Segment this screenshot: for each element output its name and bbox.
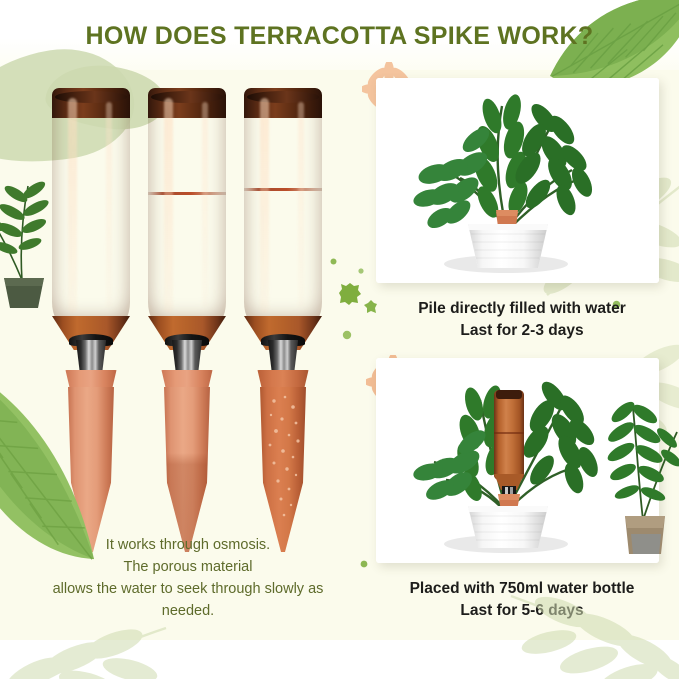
bottle-base-rim [55, 91, 127, 103]
page-title: HOW DOES TERRACOTTA SPIKE WORK? [0, 22, 679, 51]
spike-stage-3 [240, 88, 326, 518]
bottle-base [52, 88, 130, 118]
sage-leaf-sprig-icon-bottom-right [503, 560, 679, 679]
green-splatter-icon-7 [360, 560, 368, 568]
bottle-water-level [244, 188, 322, 191]
bottle-base [244, 88, 322, 118]
terracotta-spike-partially-saturated [158, 370, 216, 552]
bottle-highlight-2 [298, 102, 304, 307]
bottle-water-level [148, 192, 226, 195]
terracotta-spike-saturated [254, 370, 312, 552]
amber-bottle-2 [148, 88, 226, 328]
zz-plant-photo [376, 78, 659, 283]
spike-stage-2 [144, 88, 230, 518]
bottle-highlight-2 [202, 102, 208, 307]
sage-leaf-sprig-icon-bottom-left [0, 600, 170, 679]
photo-card-plant-with-spike[interactable] [376, 78, 659, 283]
photo-plant-with-spike-only [376, 78, 659, 283]
potted-plant-illustration-icon-right [597, 388, 679, 558]
amber-bottle-1 [52, 88, 130, 328]
terracotta-body [162, 387, 212, 552]
infographic-canvas: HOW DOES TERRACOTTA SPIKE WORK? [0, 0, 679, 679]
amber-bottle-3 [244, 88, 322, 328]
bottle-base-rim [247, 91, 319, 103]
caption-top-line-2: Last for 2-3 days [372, 320, 672, 342]
caption-top-line-1: Pile directly filled with water [418, 300, 626, 317]
bottle-base [148, 88, 226, 118]
description-line-3: allows the water to seek through slowly … [28, 578, 348, 600]
bottle-highlight-2 [106, 102, 112, 307]
bottle-base-rim [151, 91, 223, 103]
water-droplets-icon [258, 387, 308, 552]
bottle-highlight [164, 98, 173, 313]
green-splatter-icon-5 [358, 268, 364, 274]
caption-top: Pile directly filled with water Last for… [372, 298, 672, 342]
bottle-highlight [260, 98, 269, 313]
bottle-highlight [68, 98, 77, 313]
